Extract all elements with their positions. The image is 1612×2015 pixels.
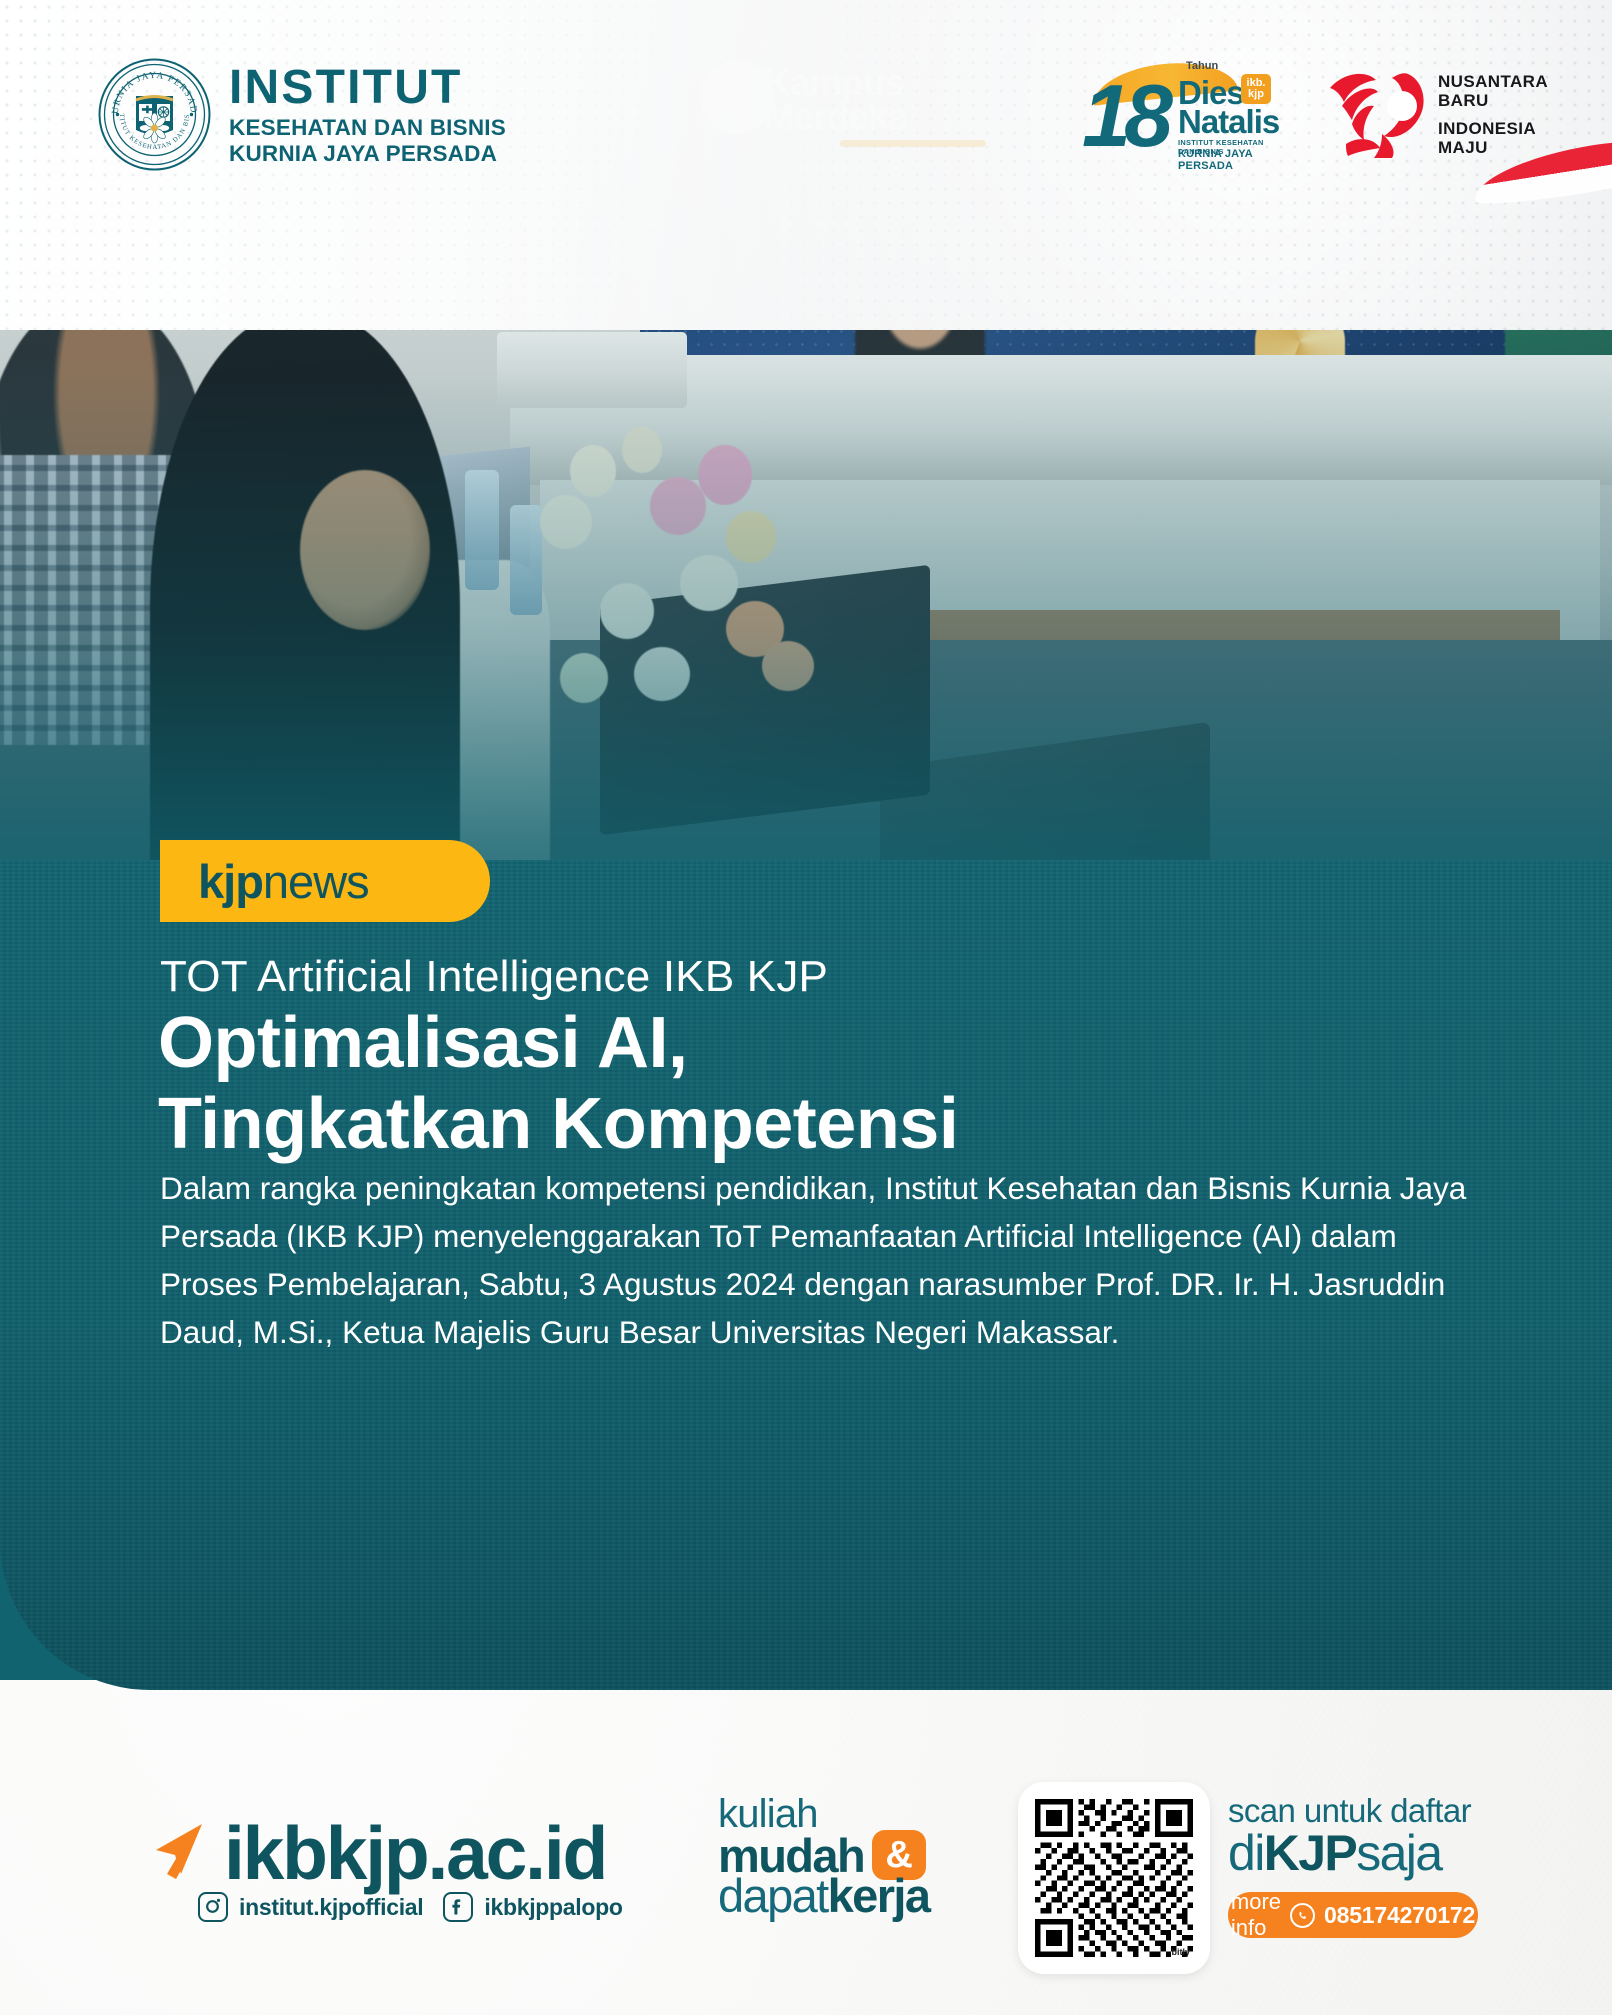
article-headline-line-1: Optimalisasi AI, xyxy=(158,1003,958,1084)
website-url[interactable]: ikbkjp.ac.id xyxy=(224,1810,606,1896)
institute-name-line-2: KESEHATAN DAN BISNIS xyxy=(229,117,506,140)
institute-name-line-3: KURNIA JAYA PERSADA xyxy=(229,143,506,166)
facebook-link[interactable]: ikbkjppalopo xyxy=(443,1892,622,1922)
institute-seal-icon: KURNIA JAYA PERSADA INSTITUT KESEHATAN D… xyxy=(98,58,211,171)
scan-line-2-suffix: saja xyxy=(1356,1825,1441,1881)
article-kicker: TOT Artificial Intelligence IKB KJP xyxy=(160,952,828,1002)
social-links: institut.kjpofficial ikbkjppalopo xyxy=(198,1892,623,1922)
scan-register-block: scan untuk daftar diKJPsaja more info 08… xyxy=(1228,1792,1488,1938)
instagram-handle[interactable]: institut.kjpofficial xyxy=(239,1894,423,1921)
website-block[interactable]: ikbkjp.ac.id xyxy=(152,1810,606,1896)
kjpnews-badge-light: news xyxy=(263,854,369,909)
article-body: Dalam rangka peningkatan kompetensi pend… xyxy=(160,1165,1490,1357)
nusantara-79-logo: NUSANTARA BARU INDONESIA MAJU xyxy=(1322,60,1552,168)
more-info-label: more info xyxy=(1231,1889,1281,1941)
slogan-line-3-bold: kerja xyxy=(828,1872,930,1919)
qr-code-image[interactable]: bitly xyxy=(1035,1799,1193,1957)
poster-root: ToT Pemanfaatan Artificial Intelligence … xyxy=(0,0,1612,2015)
slogan-line-1: kuliah xyxy=(718,1794,988,1834)
whatsapp-phone-number[interactable]: 085174270172 xyxy=(1324,1902,1475,1929)
nusantara-line-1: NUSANTARA xyxy=(1438,72,1548,91)
cursor-pointer-icon xyxy=(152,1822,206,1884)
scan-line-2: diKJPsaja xyxy=(1228,1824,1488,1882)
slogan-line-3-light: dapat xyxy=(718,1872,828,1919)
nusantara-line-3: INDONESIA xyxy=(1438,119,1548,138)
dies-natalis-tahun-label: Tahun xyxy=(1186,60,1218,72)
article-headline: Optimalisasi AI, Tingkatkan Kompetensi xyxy=(158,1003,958,1166)
slogan-line-3-row: dapat kerja xyxy=(718,1872,988,1919)
nusantara-79-number-icon xyxy=(1322,66,1430,158)
institute-name-line-1: INSTITUT xyxy=(229,64,506,112)
kampus-merdeka-watermark: Kampus Merdeka xyxy=(700,52,1000,144)
dies-natalis-word-2: Natalis xyxy=(1178,105,1279,138)
institute-logo-block: KURNIA JAYA PERSADA INSTITUT KESEHATAN D… xyxy=(98,58,506,171)
dies-natalis-sub-2: KURNIA JAYA PERSADA xyxy=(1178,148,1272,172)
dies-natalis-logo: 18 Tahun Dies Natalis ikb. kjp INSTITUT … xyxy=(1082,58,1272,164)
more-info-pill[interactable]: more info 085174270172 xyxy=(1228,1892,1478,1938)
nusantara-line-4: MAJU xyxy=(1438,138,1548,157)
nusantara-line-2: BARU xyxy=(1438,91,1548,110)
qr-bitly-watermark: bitly xyxy=(1171,1947,1190,1957)
kjpnews-badge-bold: kjp xyxy=(198,854,263,909)
kampus-merdeka-underline xyxy=(840,140,986,147)
kjpnews-badge: kjp news xyxy=(160,840,490,922)
scan-line-2-prefix: di xyxy=(1228,1825,1264,1881)
dies-natalis-number: 18 xyxy=(1082,72,1166,160)
poster-footer: ikbkjp.ac.id institut.kjpofficial xyxy=(0,1700,1612,2015)
ikb-kjp-badge-line-2: kjp xyxy=(1248,89,1264,100)
instagram-link[interactable]: institut.kjpofficial xyxy=(198,1892,423,1922)
article-headline-line-2: Tingkatkan Kompetensi xyxy=(158,1084,958,1165)
kampus-merdeka-icon xyxy=(700,60,774,134)
instagram-icon xyxy=(198,1892,228,1922)
institute-name: INSTITUT KESEHATAN DAN BISNIS KURNIA JAY… xyxy=(229,64,506,165)
nusantara-79-text: NUSANTARA BARU INDONESIA MAJU xyxy=(1438,72,1548,158)
ikb-kjp-badge: ikb. kjp xyxy=(1241,74,1271,104)
slogan-block: kuliah mudah & dapat kerja xyxy=(718,1794,988,1919)
facebook-icon xyxy=(443,1892,473,1922)
scan-line-2-bold: KJP xyxy=(1264,1825,1356,1881)
poster-header: Kampus Merdeka KURNIA JAYA PERSADA INSTI… xyxy=(0,0,1612,330)
kampus-merdeka-line-2: Merdeka xyxy=(764,96,907,138)
facebook-handle[interactable]: ikbkjppalopo xyxy=(484,1894,622,1921)
whatsapp-icon xyxy=(1290,1903,1315,1928)
qr-code-card[interactable]: bitly xyxy=(1018,1782,1210,1974)
